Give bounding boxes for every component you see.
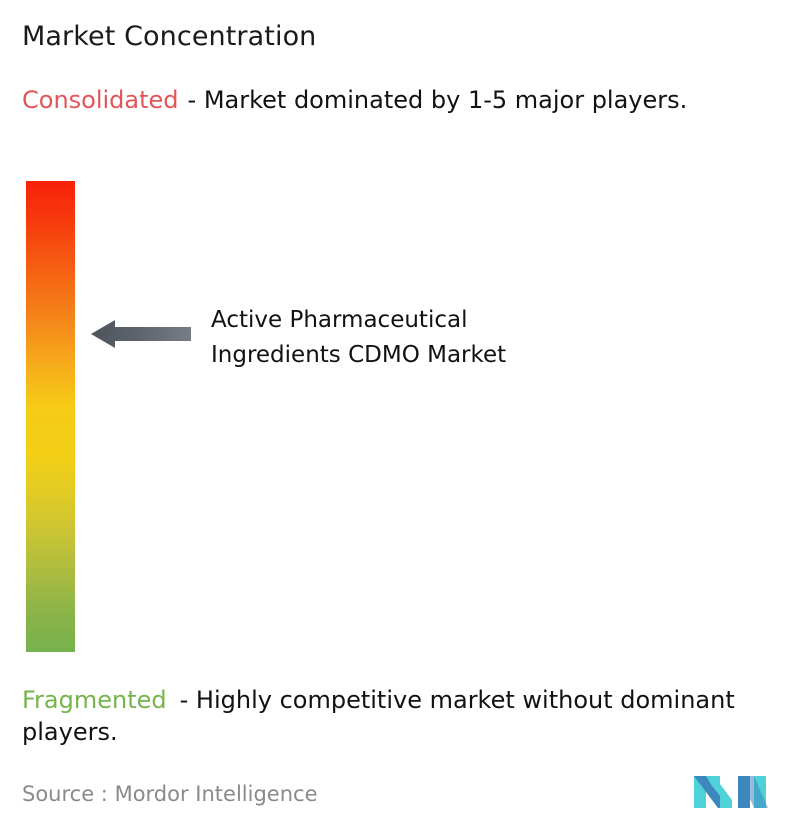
annotation-label-line1: Active Pharmaceutical [211,303,671,338]
source-value: Mordor Intelligence [115,782,318,806]
source-label: Source : [22,782,108,806]
legend-consolidated: Consolidated- Market dominated by 1-5 ma… [22,84,782,116]
page-title: Market Concentration [22,20,316,54]
concentration-gradient-bar [26,181,75,652]
legend-consolidated-description: - Market dominated by 1-5 major players. [188,86,688,114]
mordor-intelligence-logo-icon [692,770,772,814]
source-attribution: Source : Mordor Intelligence [22,780,317,808]
market-concentration-chart: Market Concentration Consolidated- Marke… [0,0,796,834]
annotation-label-line2: Ingredients CDMO Market [211,338,671,373]
legend-fragmented: Fragmented- Highly competitive market wi… [22,684,790,748]
legend-consolidated-keyword: Consolidated [22,86,179,114]
left-arrow-icon [91,318,191,350]
annotation-label: Active Pharmaceutical Ingredients CDMO M… [211,303,671,373]
legend-fragmented-keyword: Fragmented [22,686,167,714]
